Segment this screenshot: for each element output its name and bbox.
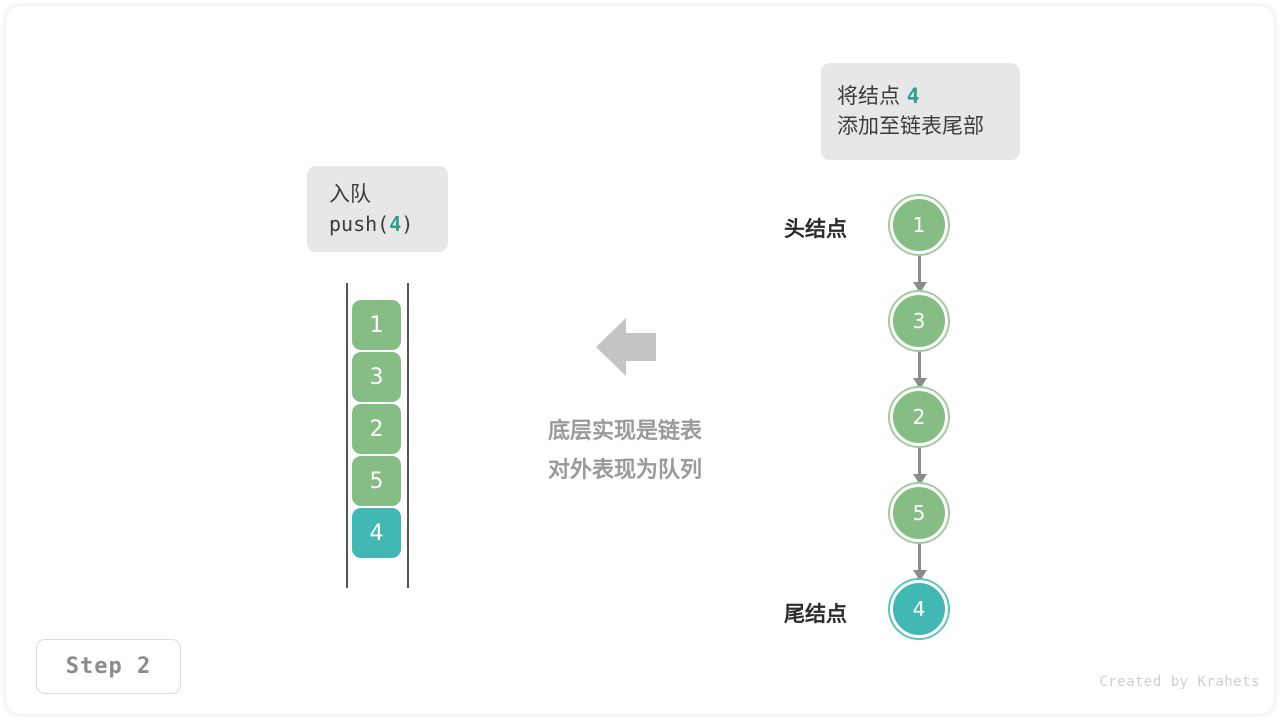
queue-rail-right bbox=[407, 283, 409, 588]
implementation-note-line-1: 底层实现是链表 bbox=[500, 412, 750, 451]
linked-list-connector-arrow bbox=[918, 448, 921, 484]
queue-cell: 1 bbox=[352, 300, 401, 350]
step-badge: Step 2 bbox=[36, 639, 181, 694]
append-callout-line-1: 将结点 4 bbox=[837, 82, 1020, 112]
queue-cell: 2 bbox=[352, 404, 401, 454]
linked-list-node: 5 bbox=[890, 484, 948, 542]
linked-list-connector-arrow bbox=[918, 352, 921, 388]
head-node-label: 头结点 bbox=[784, 213, 847, 243]
arrow-left-icon bbox=[596, 318, 656, 376]
linked-list-connector-arrow bbox=[918, 256, 921, 292]
diagram-canvas: 入队 push(4) 将结点 4 添加至链表尾部 13254 底层实现是链表 对… bbox=[0, 0, 1280, 720]
linked-list-node: 1 bbox=[890, 196, 948, 254]
push-callout-prefix: push( bbox=[329, 212, 389, 236]
linked-list-node: 2 bbox=[890, 388, 948, 446]
push-callout-line-2: push(4) bbox=[329, 210, 448, 238]
queue-cell-list: 13254 bbox=[352, 300, 401, 558]
push-callout-suffix: ) bbox=[401, 212, 413, 236]
credit-text: Created by Krahets bbox=[1099, 674, 1260, 690]
queue-cell: 3 bbox=[352, 352, 401, 402]
push-operation-callout: 入队 push(4) bbox=[307, 166, 448, 252]
append-callout-prefix: 将结点 bbox=[837, 84, 907, 108]
tail-node-label: 尾结点 bbox=[784, 598, 847, 628]
linked-list-visual: 头结点 尾结点 13254 bbox=[770, 185, 990, 650]
linked-list-connector-arrow bbox=[918, 544, 921, 580]
queue-cell: 4 bbox=[352, 508, 401, 558]
append-callout-line-2: 添加至链表尾部 bbox=[837, 112, 1020, 142]
queue-rail-left bbox=[346, 283, 348, 588]
push-callout-line-1: 入队 bbox=[329, 180, 448, 210]
push-callout-value: 4 bbox=[389, 212, 401, 236]
append-callout-value: 4 bbox=[907, 84, 920, 108]
linked-list-node: 3 bbox=[890, 292, 948, 350]
append-node-callout: 将结点 4 添加至链表尾部 bbox=[821, 63, 1020, 160]
queue-cell: 5 bbox=[352, 456, 401, 506]
implementation-note: 底层实现是链表 对外表现为队列 bbox=[500, 412, 750, 490]
linked-list-node: 4 bbox=[890, 580, 948, 638]
queue-visual: 13254 bbox=[340, 283, 418, 588]
implementation-note-line-2: 对外表现为队列 bbox=[500, 451, 750, 490]
